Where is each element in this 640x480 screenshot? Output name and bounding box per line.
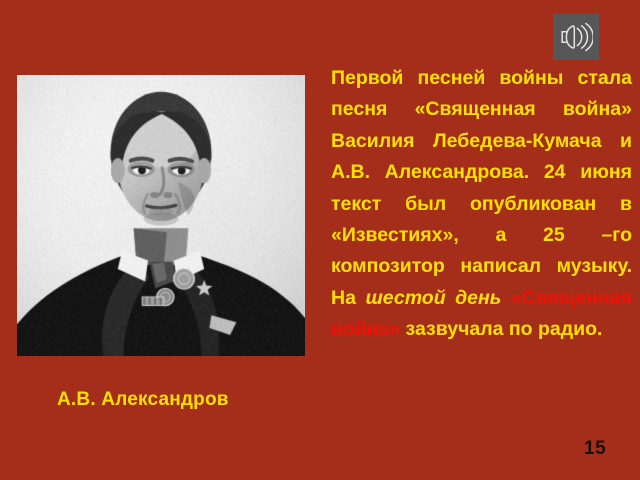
photo-caption: А.В. Александров [57, 388, 317, 412]
body-segment-2 [501, 287, 511, 309]
body-segment-1: шестой день [365, 287, 501, 309]
portrait-photo [17, 75, 305, 356]
body-segment-0: Первой песней войны стала песня «Священн… [331, 67, 632, 309]
slide-canvas: А.В. Александров Первой песней войны ста… [0, 0, 640, 480]
sound-speaker-icon[interactable] [553, 14, 599, 60]
portrait-photo-image [17, 75, 305, 356]
body-text: Первой песней войны стала песня «Священн… [331, 63, 632, 346]
body-text-paragraph: Первой песней войны стала песня «Священн… [331, 63, 632, 346]
body-segment-4: зазвучала по радио. [400, 318, 602, 340]
page-number: 15 [584, 438, 606, 460]
sound-speaker-icon-glyph [559, 22, 593, 52]
